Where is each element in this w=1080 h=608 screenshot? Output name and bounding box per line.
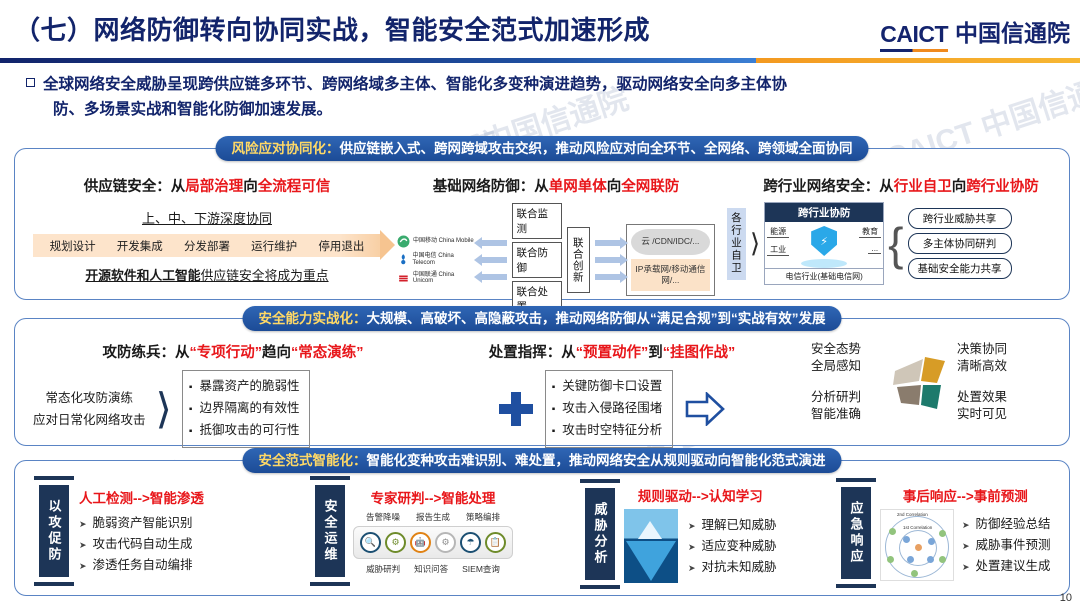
- center-node: [915, 544, 922, 551]
- node: [887, 556, 894, 563]
- section3-banner: 安全范式智能化：智能化变种攻击难识别、难处置，推动网络安全从规则驱动向智能化范式…: [243, 448, 842, 473]
- checklist-item: 攻击时空特征分析: [552, 420, 663, 442]
- industry-self-defense-label: 各行业自卫: [727, 208, 746, 280]
- outcome-quadrant: 安全态势 全局感知 决策协同 清晰高效 分析研判 智能准确 处置效果 实时可见: [805, 339, 1065, 425]
- list-item: 对抗未知威胁: [688, 557, 777, 578]
- joint-item: 联合监测: [512, 203, 562, 239]
- infrastructure-box: 云 /CDN/IDC/... IP承载网/移动通信网/...: [626, 224, 715, 296]
- heading-mid: 到: [648, 345, 663, 361]
- cross-industry-column: 跨行业网络安全：从行业自卫向跨行业协防 各行业自卫 ⟩ 跨行业协防 能源 教育 …: [727, 175, 1075, 285]
- group-body: 人工检测-->智能渗透 脆弱资产智能识别 攻击代码自动生成 渗透任务自动编排: [79, 487, 204, 576]
- command-heading: 处置指挥：从“预置动作”到“挂图作战”: [447, 341, 777, 362]
- iceberg-base: [626, 541, 676, 581]
- group-body: 专家研判-->智能处理 告警降噪 报告生成 策略编排 🔍 ⚙ 🤖 ⚙ ☂ 📋 威…: [353, 487, 513, 575]
- heading-prefix: 处置指挥：从: [489, 345, 576, 361]
- drill-checklist: 暴露资产的脆弱性 边界隔离的有效性 抵御攻击的可行性: [182, 370, 311, 448]
- node: [927, 556, 934, 563]
- capability-list: 跨行业威胁共享 多主体协同研判 基础安全能力共享: [908, 208, 1012, 279]
- carrier-china-mobile: 中国移动 China Mobile: [397, 235, 474, 248]
- list-item: 脆弱资产智能识别: [79, 513, 204, 534]
- stage-item: 运行维护: [251, 238, 297, 254]
- network-icon[interactable]: ⚙: [435, 532, 456, 553]
- outcome-text: 安全态势: [811, 341, 861, 358]
- heading-to: 全网联防: [621, 179, 679, 195]
- stage-item: 规划设计: [50, 238, 96, 254]
- list-item: 处置建议生成: [962, 556, 1051, 577]
- group-list: 防御经验总结 威胁事件预测 处置建议生成: [962, 514, 1051, 577]
- right-arrow-icon: [595, 240, 621, 246]
- checklist-item: 抵御攻击的可行性: [189, 420, 300, 442]
- section3-banner-rest: 智能化变种攻击难识别、难处置，推动网络安全从规则驱动向智能化范式演进: [367, 453, 826, 468]
- node: [928, 538, 935, 545]
- stage-item: 分发部署: [184, 238, 230, 254]
- tab-offense-drives-defense[interactable]: 以攻促防: [39, 485, 69, 577]
- carrier-china-telecom: 中国电信 China Telecom: [397, 253, 476, 267]
- heading-mid: 向: [952, 179, 967, 195]
- section1-banner-key: 风险应对协同化：: [232, 141, 340, 156]
- node: [907, 556, 914, 563]
- heading-prefix: 跨行业网络安全：从: [763, 179, 894, 195]
- command-checklist: 关键防御卡口设置 攻击入侵路径围堵 攻击时空特征分析: [545, 370, 674, 448]
- heading-to: 全流程可信: [258, 179, 331, 195]
- pinwheel-icon: [889, 347, 963, 421]
- group-heading: 人工检测-->智能渗透: [79, 487, 204, 507]
- cloud-icon-label: 云 /CDN/IDC/...: [631, 229, 710, 255]
- footer-emphasis: 开源软件和人工智能: [85, 268, 200, 283]
- ops-icon-panel: 🔍 ⚙ 🤖 ⚙ ☂ 📋: [353, 526, 513, 559]
- gear-icon[interactable]: ⚙: [385, 532, 406, 553]
- cross-industry-diagram: 各行业自卫 ⟩ 跨行业协防 能源 教育 工业 ... ⚡ 电信行业(基础电信网)…: [727, 202, 1075, 285]
- drill-text-line-1: 常态化攻防演练: [33, 387, 146, 409]
- heading-mid: 趋向: [262, 345, 291, 361]
- heading-from: 局部治理: [185, 179, 243, 195]
- outcome-text: 分析研判: [811, 389, 861, 406]
- arrow-right-icon: [685, 392, 725, 426]
- heading-from: 行业自卫: [894, 179, 952, 195]
- stage-arrow-icon: [380, 230, 395, 260]
- list-item: 理解已知威胁: [688, 515, 777, 536]
- carrier-label: 中国联通 China Unicom: [413, 272, 476, 286]
- industry-tag-energy: 能源: [767, 226, 789, 238]
- correlation-label-1: 1st Correlation: [903, 525, 932, 530]
- section2-banner-key: 安全能力实战化：: [259, 311, 367, 326]
- brace-wrap: {: [888, 208, 903, 280]
- group-list: 脆弱资产智能识别 攻击代码自动生成 渗透任务自动编排: [79, 513, 204, 576]
- iceberg-tip: [638, 521, 662, 539]
- china-mobile-logo-icon: [397, 235, 410, 248]
- report-icon[interactable]: 📋: [485, 532, 506, 553]
- correlation-label-2: 2nd Correlation: [897, 512, 928, 517]
- drill-left-text: 常态化攻防演练 应对日常化网络攻击: [33, 387, 146, 431]
- section1-banner: 风险应对协同化：供应链嵌入式、跨网跨域攻击交织，推动风险应对向全环节、全网络、跨…: [216, 136, 869, 161]
- left-arrow-icon: [481, 274, 507, 280]
- drill-text-line-2: 应对日常化网络攻击: [33, 409, 146, 431]
- list-item: 防御经验总结: [962, 514, 1051, 535]
- chevron-right-icon: ⟩: [156, 393, 172, 425]
- network-defense-heading: 基础网络防御：从单网单体向全网联防: [397, 175, 715, 196]
- supply-chain-column: 供应链安全：从局部治理向全流程可信 上、中、下游深度协同 规划设计 开发集成 分…: [33, 175, 381, 284]
- node: [889, 528, 896, 535]
- network-defense-column: 基础网络防御：从单网单体向全网联防 中国移动 China Mobile 中国电信…: [397, 175, 715, 317]
- card-body: 能源 教育 工业 ... ⚡: [765, 222, 883, 268]
- stage-item: 停用退出: [318, 238, 364, 254]
- heading-from: 单网单体: [549, 179, 607, 195]
- china-telecom-logo-icon: [397, 253, 410, 266]
- group-security-operations: 安全运维 专家研判-->智能处理 告警降噪 报告生成 策略编排 🔍 ⚙ 🤖 ⚙ …: [315, 485, 513, 577]
- caict-logo: CAICT 中国信通院: [880, 14, 1070, 48]
- capability-item: 基础安全能力共享: [908, 258, 1012, 279]
- plus-icon: [499, 392, 533, 426]
- tab-security-operations[interactable]: 安全运维: [315, 485, 345, 577]
- joint-action-boxes: 联合监测 联合防御 联合处置: [512, 203, 562, 317]
- robot-icon[interactable]: 🤖: [410, 532, 431, 553]
- checklist-item: 关键防御卡口设置: [552, 376, 663, 398]
- iceberg-icon: [624, 509, 678, 583]
- supply-chain-stage-bar: 规划设计 开发集成 分发部署 运行维护 停用退出: [33, 234, 381, 257]
- heading-from: “预置动作”: [576, 345, 649, 361]
- group-offense-drives-defense: 以攻促防 人工检测-->智能渗透 脆弱资产智能识别 攻击代码自动生成 渗透任务自…: [39, 485, 204, 577]
- ops-caption-top: 告警降噪 报告生成 策略编排: [353, 511, 513, 523]
- brand-acronym: CAICT: [880, 21, 948, 48]
- section-paradigm-intelligence: 安全范式智能化：智能化变种攻击难识别、难处置，推动网络安全从规则驱动向智能化范式…: [14, 460, 1070, 596]
- right-arrow-icon: [595, 257, 621, 263]
- cross-industry-card: 跨行业协防 能源 教育 工业 ... ⚡ 电信行业(基础电信网): [764, 202, 884, 285]
- command-content: 关键防御卡口设置 攻击入侵路径围堵 攻击时空特征分析: [447, 370, 777, 448]
- ops-caption: 策略编排: [466, 511, 500, 523]
- left-arrow-icon: [481, 257, 507, 263]
- card-title: 跨行业协防: [765, 203, 883, 222]
- ops-caption-bottom: 威胁研判 知识问答 SIEM查询: [353, 563, 513, 575]
- card-footer: 电信行业(基础电信网): [765, 268, 883, 284]
- cross-industry-heading: 跨行业网络安全：从行业自卫向跨行业协防: [727, 175, 1075, 196]
- drill-heading: 攻防练兵：从“专项行动”趋向“常态演练”: [33, 341, 433, 362]
- heading-to: 跨行业协防: [966, 179, 1039, 195]
- intro-bullet: 全球网络安全威胁呈现跨供应链多环节、跨网络域多主体、智能化多变种演进趋势，驱动网…: [26, 72, 1054, 122]
- outcome-text: 全局感知: [811, 358, 861, 375]
- section1-banner-rest: 供应链嵌入式、跨网跨域攻击交织，推动风险应对向全环节、全网络、跨领域全面协同: [340, 141, 853, 156]
- carrier-label: 中国移动 China Mobile: [413, 238, 474, 245]
- supply-chain-footer: 开源软件和人工智能供应链安全将成为重点: [33, 265, 381, 284]
- left-arrow-group: [481, 240, 507, 280]
- brand-name-cn: 中国信通院: [955, 14, 1070, 48]
- intro-line-2: 防、多场景实战和智能化防御加速发展。: [53, 97, 1054, 122]
- industry-tag-education: 教育: [859, 226, 881, 238]
- page-number: 10: [1060, 592, 1072, 604]
- china-unicom-logo-icon: [397, 272, 410, 285]
- header-divider: [0, 58, 1080, 63]
- section3-banner-key: 安全范式智能化：: [259, 453, 367, 468]
- group-emergency-response: 应急响应 事后响应-->事前预测 2nd Correlation 1st Cor…: [841, 485, 1051, 581]
- outcome-text: 处置效果: [957, 389, 1007, 406]
- node: [911, 570, 918, 577]
- list-item: 威胁事件预测: [962, 535, 1051, 556]
- group-heading: 规则驱动-->认知学习: [624, 485, 777, 505]
- left-arrow-icon: [481, 240, 507, 246]
- supply-chain-heading: 供应链安全：从局部治理向全流程可信: [33, 175, 381, 196]
- group-threat-analysis: 威胁分析 规则驱动-->认知学习 理解已知威胁 适应变种威胁 对抗未知威胁: [585, 485, 777, 583]
- slide-header: （七）网络防御转向协同实战，智能安全范式加速形成 CAICT 中国信通院: [0, 0, 1080, 60]
- heading-to: “常态演练”: [291, 345, 364, 361]
- page-title: （七）网络防御转向协同实战，智能安全范式加速形成: [14, 10, 650, 47]
- list-item: 适应变种威胁: [688, 536, 777, 557]
- correlation-graph-icon: 2nd Correlation 1st Correlation: [880, 509, 954, 581]
- umbrella-icon[interactable]: ☂: [460, 532, 481, 553]
- heading-mid: 向: [607, 179, 622, 195]
- ops-caption: 报告生成: [416, 511, 450, 523]
- bearer-network-label: IP承载网/移动通信网/...: [631, 259, 710, 291]
- section-capability-practice: 安全能力实战化：大规模、高破坏、高隐蔽攻击，推动网络防御从“满足合规”到“实战有…: [14, 318, 1070, 446]
- group-list: 理解已知威胁 适应变种威胁 对抗未知威胁: [688, 515, 777, 578]
- outcome-top-left: 安全态势 全局感知: [811, 341, 861, 375]
- node: [903, 536, 910, 543]
- shield-icon: ⚡: [811, 226, 837, 256]
- drill-content: 常态化攻防演练 应对日常化网络攻击 ⟩ 暴露资产的脆弱性 边界隔离的有效性 抵御…: [33, 370, 433, 448]
- drill-column: 攻防练兵：从“专项行动”趋向“常态演练” 常态化攻防演练 应对日常化网络攻击 ⟩…: [33, 341, 433, 448]
- tab-emergency-response[interactable]: 应急响应: [841, 487, 871, 579]
- group-body: 事后响应-->事前预测 2nd Correlation 1st Correlat…: [880, 485, 1051, 581]
- heading-prefix: 供应链安全：从: [84, 179, 186, 195]
- heading-prefix: 基础网络防御：从: [433, 179, 549, 195]
- tab-threat-analysis[interactable]: 威胁分析: [585, 488, 615, 580]
- outcome-top-right: 决策协同 清晰高效: [957, 341, 1007, 375]
- carrier-china-unicom: 中国联通 China Unicom: [397, 272, 476, 286]
- command-column: 处置指挥：从“预置动作”到“挂图作战” 关键防御卡口设置 攻击入侵路径围堵 攻击…: [447, 341, 777, 448]
- outcome-text: 决策协同: [957, 341, 1007, 358]
- carrier-list: 中国移动 China Mobile 中国电信 China Telecom 中国联…: [397, 235, 476, 286]
- checklist-item: 边界隔离的有效性: [189, 398, 300, 420]
- checklist-item: 暴露资产的脆弱性: [189, 376, 300, 398]
- node: [939, 530, 946, 537]
- intro-line-1: 全球网络安全威胁呈现跨供应链多环节、跨网络域多主体、智能化多变种演进趋势，驱动网…: [43, 76, 787, 93]
- section2-banner-rest: 大规模、高破坏、高隐蔽攻击，推动网络防御从“满足合规”到“实战有效”发展: [367, 311, 826, 326]
- ops-caption: 告警降噪: [366, 511, 400, 523]
- list-item: 渗透任务自动编排: [79, 555, 204, 576]
- heading-prefix: 攻防练兵：从: [103, 345, 190, 361]
- response-content: 2nd Correlation 1st Correlation 防御经验总结 威…: [880, 509, 1051, 581]
- supply-chain-subtitle: 上、中、下游深度协同: [33, 208, 381, 227]
- list-item: 攻击代码自动生成: [79, 534, 204, 555]
- heading-from: “专项行动”: [190, 345, 263, 361]
- ops-caption: SIEM查询: [462, 563, 500, 575]
- group-heading: 事后响应-->事前预测: [880, 485, 1051, 505]
- outcome-bottom-left: 分析研判 智能准确: [811, 389, 861, 423]
- outcome-text: 智能准确: [811, 406, 861, 423]
- group-heading: 专家研判-->智能处理: [353, 487, 513, 507]
- stage-item: 开发集成: [117, 238, 163, 254]
- capability-item: 跨行业威胁共享: [908, 208, 1012, 229]
- outcome-text: 实时可见: [957, 406, 1007, 423]
- joint-innovation-label: 联合创新: [567, 227, 590, 293]
- section2-banner: 安全能力实战化：大规模、高破坏、高隐蔽攻击，推动网络防御从“满足合规”到“实战有…: [243, 306, 842, 331]
- capability-item: 多主体协同研判: [908, 233, 1012, 254]
- group-body: 规则驱动-->认知学习 理解已知威胁 适应变种威胁 对抗未知威胁: [624, 485, 777, 583]
- node: [939, 556, 946, 563]
- right-arrow-icon: [595, 274, 621, 280]
- platform-disc-icon: [801, 259, 847, 268]
- heading-mid: 向: [243, 179, 258, 195]
- footer-rest: 供应链安全将成为重点: [201, 268, 329, 283]
- carrier-label: 中国电信 China Telecom: [413, 253, 476, 267]
- search-icon[interactable]: 🔍: [360, 532, 381, 553]
- heading-to: “挂图作战”: [663, 345, 736, 361]
- joint-item: 联合防御: [512, 242, 562, 278]
- outcome-column: 安全态势 全局感知 决策协同 清晰高效 分析研判 智能准确 处置效果 实时可见: [805, 339, 1075, 425]
- checklist-item: 攻击入侵路径围堵: [552, 398, 663, 420]
- threat-content: 理解已知威胁 适应变种威胁 对抗未知威胁: [624, 509, 777, 583]
- joint-defense-diagram: 中国移动 China Mobile 中国电信 China Telecom 中国联…: [397, 203, 715, 317]
- outcome-text: 清晰高效: [957, 358, 1007, 375]
- industry-tag-industry: 工业: [767, 244, 789, 256]
- industry-tag-more: ...: [868, 244, 881, 254]
- outcome-bottom-right: 处置效果 实时可见: [957, 389, 1007, 423]
- chevron-right-icon: ⟩: [750, 233, 760, 254]
- ops-caption: 知识问答: [414, 563, 448, 575]
- section-risk-coordination: 风险应对协同化：供应链嵌入式、跨网跨域攻击交织，推动风险应对向全环节、全网络、跨…: [14, 148, 1070, 300]
- bullet-square-icon: [26, 78, 35, 87]
- ops-caption: 威胁研判: [366, 563, 400, 575]
- right-arrow-group: [595, 240, 621, 280]
